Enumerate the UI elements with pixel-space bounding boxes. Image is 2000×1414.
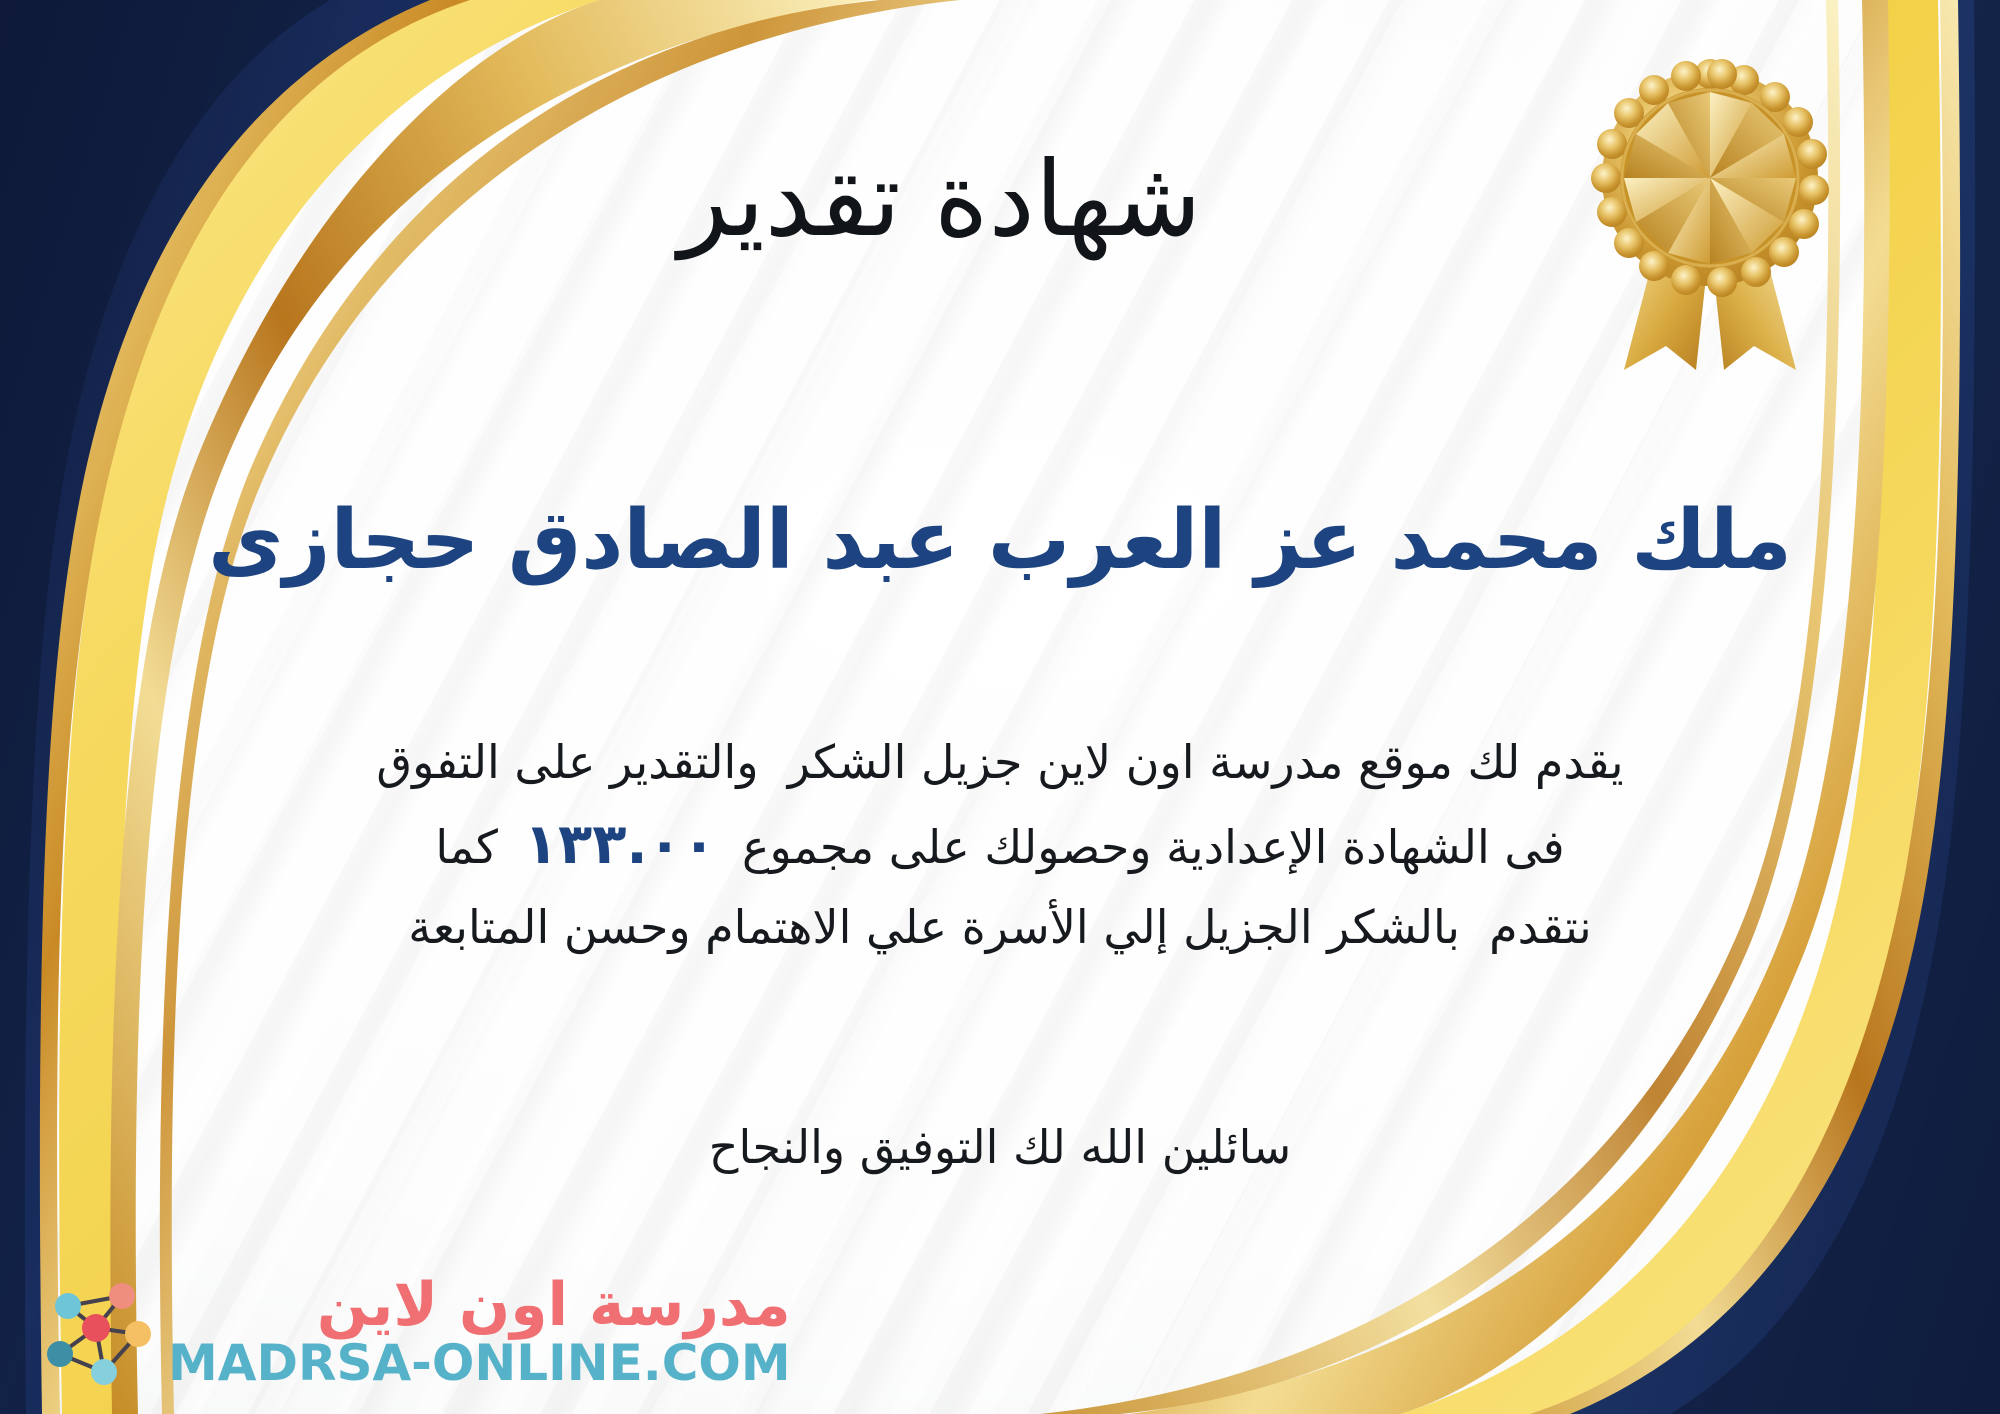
certificate-content: شهادة تقدير ملك محمد عز العرب عبد الصادق… [0, 0, 2000, 1414]
certificate-body: يقدم لك موقع مدرسة اون لاين جزيل الشكر و… [120, 725, 1880, 965]
body-line-2-suffix: كما [435, 820, 498, 874]
logo-text-block: مدرسة اون لاين MADRSA-ONLINE.COM [168, 1274, 791, 1390]
certificate-canvas: شهادة تقدير ملك محمد عز العرب عبد الصادق… [0, 0, 2000, 1414]
body-line-3: نتقدم بالشكر الجزيل إلي الأسرة علي الاهت… [120, 890, 1880, 965]
closing-statement: سائلين الله لك التوفيق والنجاح [120, 1120, 1880, 1174]
network-nodes-icon [34, 1272, 154, 1392]
score-value: ١٣٣.٠٠ [498, 812, 742, 877]
logo-arabic-name: مدرسة اون لاين [317, 1274, 791, 1337]
page-title: شهادة تقدير [0, 140, 2000, 260]
body-line-2-prefix: فى الشهادة الإعدادية وحصولك على مجموع [742, 820, 1565, 874]
body-line-1: يقدم لك موقع مدرسة اون لاين جزيل الشكر و… [120, 725, 1880, 800]
logo-website-url: MADRSA-ONLINE.COM [168, 1337, 791, 1390]
brand-logo[interactable]: مدرسة اون لاين MADRSA-ONLINE.COM [34, 1272, 791, 1392]
recipient-name: ملك محمد عز العرب عبد الصادق حجازى [0, 490, 2000, 593]
body-line-2: فى الشهادة الإعدادية وحصولك على مجموع١٣٣… [120, 800, 1880, 891]
